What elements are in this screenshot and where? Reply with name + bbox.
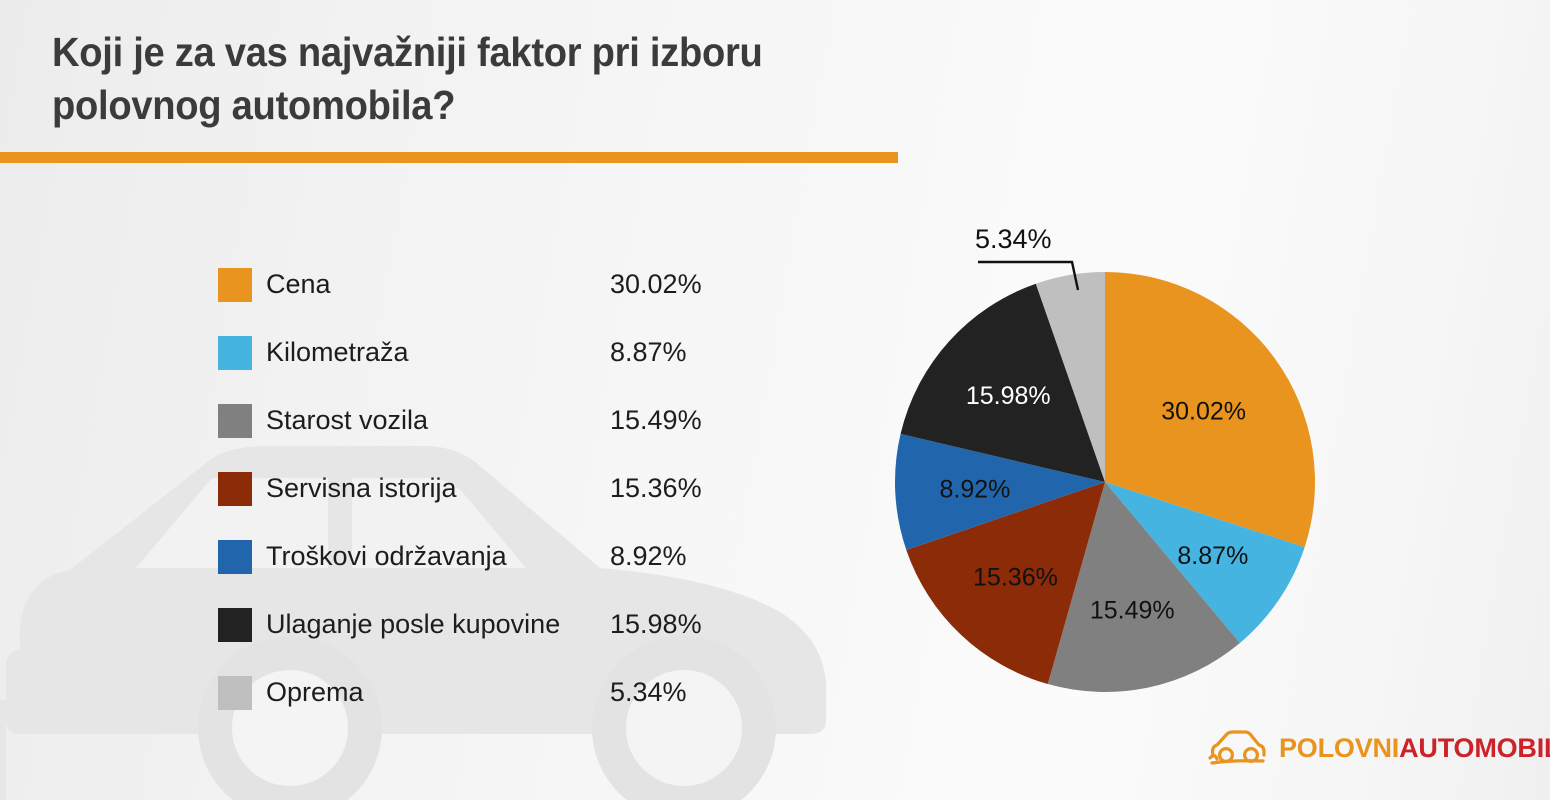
legend-label-kilometraza: Kilometraža <box>266 332 409 372</box>
legend-value-kilometraza: 8.87% <box>610 332 687 372</box>
legend-value-oprema: 5.34% <box>610 672 687 712</box>
legend-value-starost-vozila: 15.49% <box>610 400 702 440</box>
callout-value-oprema: 5.34% <box>975 224 1052 255</box>
pie-label-cena: 30.02% <box>1161 397 1246 425</box>
pie-chart: 30.02%8.87%15.49%15.36%8.92%15.98% <box>860 200 1420 720</box>
legend-swatch-cena <box>218 268 252 302</box>
pie-label-servisna-istorija: 15.36% <box>973 564 1058 592</box>
title-underline-rule <box>0 152 898 163</box>
legend-label-cena: Cena <box>266 264 331 304</box>
legend-label-oprema: Oprema <box>266 672 364 712</box>
logo-word-polovni: POLOVNI <box>1279 733 1399 763</box>
legend-label-troskovi-odrzavanja: Troškovi održavanja <box>266 536 507 576</box>
car-icon <box>1207 728 1269 768</box>
logo-word-automobili: AUTOMOBILI <box>1399 733 1550 763</box>
pie-label-kilometraža: 8.87% <box>1177 542 1248 570</box>
pie-label-troškovi-održavanja: 8.92% <box>940 475 1011 503</box>
page-title: Koji je za vas najvažniji faktor pri izb… <box>52 26 870 133</box>
pie-label-starost-vozila: 15.49% <box>1090 596 1175 624</box>
legend-value-cena: 30.02% <box>610 264 702 304</box>
legend-swatch-oprema <box>218 676 252 710</box>
legend-swatch-troskovi-odrzavanja <box>218 540 252 574</box>
legend-swatch-servisna-istorija <box>218 472 252 506</box>
brand-logo[interactable]: POLOVNIAUTOMOBILI <box>1207 728 1550 768</box>
pie-label-ulaganje-posle-kupovine: 15.98% <box>966 382 1051 410</box>
car-watermark-graphic <box>0 400 860 800</box>
legend-swatch-starost-vozila <box>218 404 252 438</box>
logo-wordmark: POLOVNIAUTOMOBILI <box>1279 735 1550 762</box>
legend-value-ulaganje-posle-kupovine: 15.98% <box>610 604 702 644</box>
legend-swatch-kilometraza <box>218 336 252 370</box>
legend-value-servisna-istorija: 15.36% <box>610 468 702 508</box>
legend-swatch-ulaganje-posle-kupovine <box>218 608 252 642</box>
legend-label-starost-vozila: Starost vozila <box>266 400 428 440</box>
legend-label-ulaganje-posle-kupovine: Ulaganje posle kupovine <box>266 604 560 644</box>
legend-value-troskovi-odrzavanja: 8.92% <box>610 536 687 576</box>
legend-label-servisna-istorija: Servisna istorija <box>266 468 457 508</box>
